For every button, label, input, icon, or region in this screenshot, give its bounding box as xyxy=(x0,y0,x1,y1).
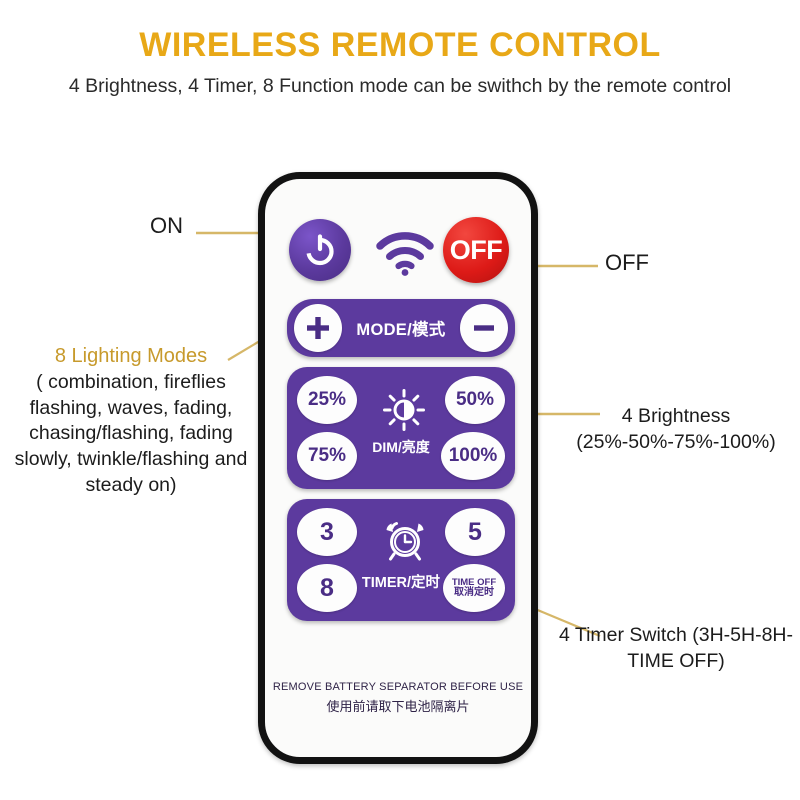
battery-separator-notice-en: REMOVE BATTERY SEPARATOR BEFORE USE xyxy=(265,681,531,693)
callout-lighting-modes: 8 Lighting Modes ( combination, fireflie… xyxy=(6,345,256,499)
brightness-panel-label: DIM/亮度 xyxy=(287,437,515,457)
timer-panel: 3 5 8 TIME OFF 取消定时 TIMER/定时 xyxy=(287,499,515,621)
battery-separator-notice-cn: 使用前请取下电池隔离片 xyxy=(265,696,531,715)
remote-top-row: OFF xyxy=(265,213,531,293)
mode-panel: MODE/模式 xyxy=(287,299,515,357)
callout-lighting-modes-title: 8 Lighting Modes xyxy=(6,345,256,368)
brightness-25-button[interactable]: 25% xyxy=(297,376,357,424)
page-title: WIRELESS REMOTE CONTROL xyxy=(0,0,800,65)
callout-lighting-modes-body: ( combination, fireflies flashing, waves… xyxy=(6,370,256,499)
remote-control-device: OFF MODE/模式 25% 50% 75% 100% xyxy=(258,172,538,764)
alarm-clock-icon xyxy=(383,517,427,563)
mode-minus-button[interactable] xyxy=(460,304,508,352)
timer-panel-label: TIMER/定时 xyxy=(287,571,515,592)
timer-3h-button[interactable]: 3 xyxy=(297,508,357,556)
callout-timer-switch: 4 Timer Switch (3H-5H-8H-TIME OFF) xyxy=(552,622,800,675)
brightness-50-button[interactable]: 50% xyxy=(445,376,505,424)
infographic-header: WIRELESS REMOTE CONTROL 4 Brightness, 4 … xyxy=(0,0,800,98)
minus-icon xyxy=(471,315,497,341)
brightness-panel: 25% 50% 75% 100% DIM/亮度 xyxy=(287,367,515,489)
remote-footer: REMOVE BATTERY SEPARATOR BEFORE USE 使用前请… xyxy=(265,681,531,715)
timer-5h-button[interactable]: 5 xyxy=(445,508,505,556)
off-button[interactable]: OFF xyxy=(443,217,509,283)
page-subtitle: 4 Brightness, 4 Timer, 8 Function mode c… xyxy=(0,65,800,98)
sun-icon xyxy=(383,389,425,431)
off-button-label: OFF xyxy=(450,235,503,266)
callout-brightness: 4 Brightness (25%-50%-75%-100%) xyxy=(552,403,800,456)
power-button[interactable] xyxy=(289,219,351,281)
callout-off-label: OFF xyxy=(605,250,649,276)
callout-on-label: ON xyxy=(150,213,183,239)
wifi-icon xyxy=(374,229,436,277)
